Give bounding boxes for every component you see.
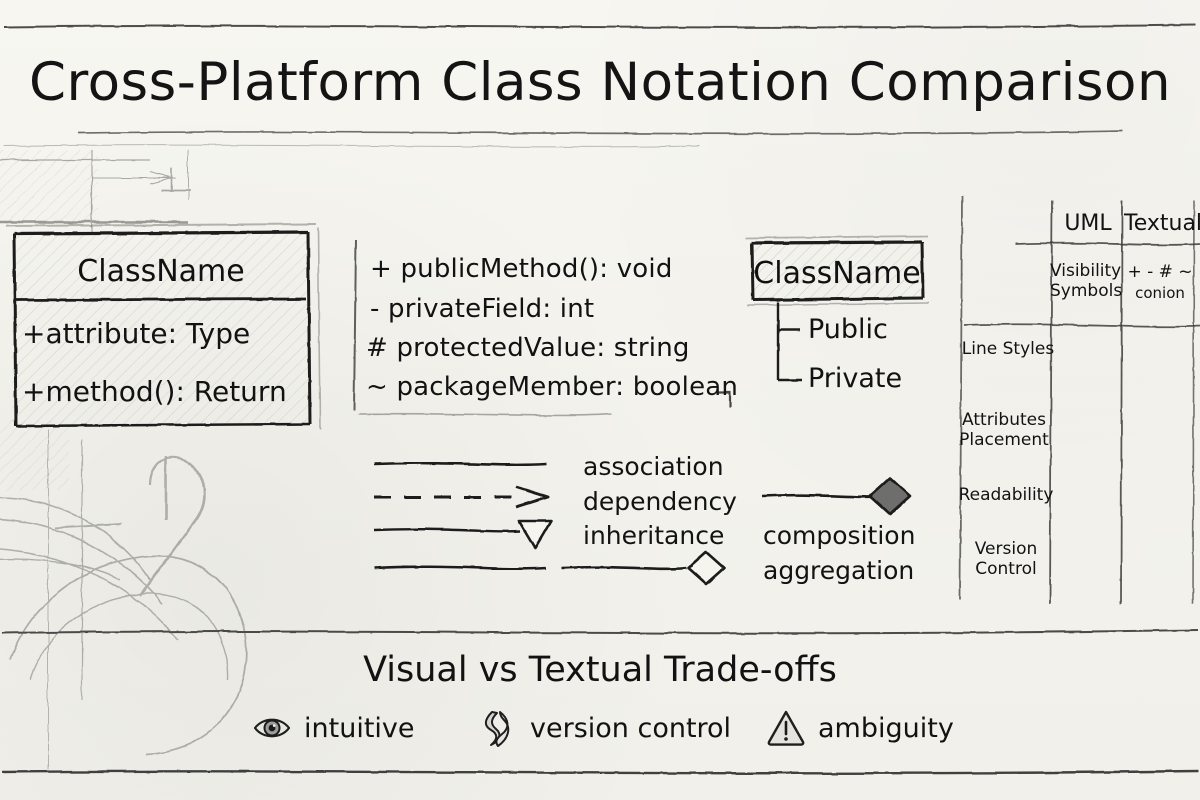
table-cell-visibility-textual-primary: + - # ~ [1124, 262, 1196, 282]
legend-line-inheritance [374, 521, 551, 548]
table-cell-visibility-uml: Visibility Symbols [1050, 262, 1120, 301]
member-package-member: ~ packageMember: boolean [366, 372, 738, 402]
eye-icon [252, 708, 292, 748]
legend-line-association [374, 463, 546, 465]
tree-root-label: ClassName [752, 256, 922, 291]
footer-label-intuitive: intuitive [304, 713, 415, 744]
table-rowlabel-line-styles: Line Styles [960, 340, 1056, 360]
legend-line-dependency [374, 487, 548, 507]
legend-label-dependency: dependency [583, 487, 737, 516]
member-protected-value: # protectedValue: string [366, 333, 690, 363]
uml-class-attribute-row: +attribute: Type [22, 317, 250, 350]
table-rowlabel-attributes-placement: Attributes Placement [956, 411, 1052, 450]
member-public-method: + publicMethod(): void [370, 254, 673, 284]
footer-item-intuitive: intuitive [252, 708, 415, 748]
legend-label-association: association [583, 452, 724, 481]
table-cell-visibility-uml-text: Visibility Symbols [1050, 261, 1122, 301]
member-private-field: - privateField: int [370, 294, 594, 324]
footer-item-ambiguity: ambiguity [766, 708, 954, 748]
construction-sketch-top-left [0, 150, 190, 232]
page-title: Cross-Platform Class Notation Comparison [0, 52, 1200, 113]
table-cell-visibility-textual-secondary: conion [1124, 284, 1196, 302]
footer-label-ambiguity: ambiguity [818, 713, 954, 744]
legend-line-composition [762, 478, 910, 514]
warning-triangle-icon [766, 708, 806, 748]
table-rowlabel-version-control: Version Control [958, 540, 1054, 579]
branch-merge-icon [478, 708, 518, 748]
construction-sketch-bottom-left [0, 420, 246, 770]
uml-class-method-row: +method(): Return [22, 375, 287, 408]
legend-label-aggregation: aggregation [763, 556, 914, 585]
table-column-uml: UML [1054, 211, 1122, 236]
uml-class-name: ClassName [12, 254, 310, 289]
footer-item-version-control: version control [478, 708, 731, 748]
footer-label-version-control: version control [530, 713, 731, 744]
legend-label-inheritance: inheritance [583, 521, 724, 550]
legend-line-plain [374, 567, 546, 569]
table-column-textual: Textual [1124, 211, 1196, 236]
footer-title: Visual vs Textual Trade-offs [0, 650, 1200, 690]
table-rowlabel-readability: Readability [958, 486, 1054, 506]
tree-child-public: Public [808, 314, 888, 345]
diagram-canvas: Cross-Platform Class Notation Comparison… [0, 0, 1200, 800]
legend-label-composition: composition [763, 521, 915, 550]
legend-line-aggregation [562, 552, 724, 584]
tree-child-private: Private [808, 363, 902, 394]
